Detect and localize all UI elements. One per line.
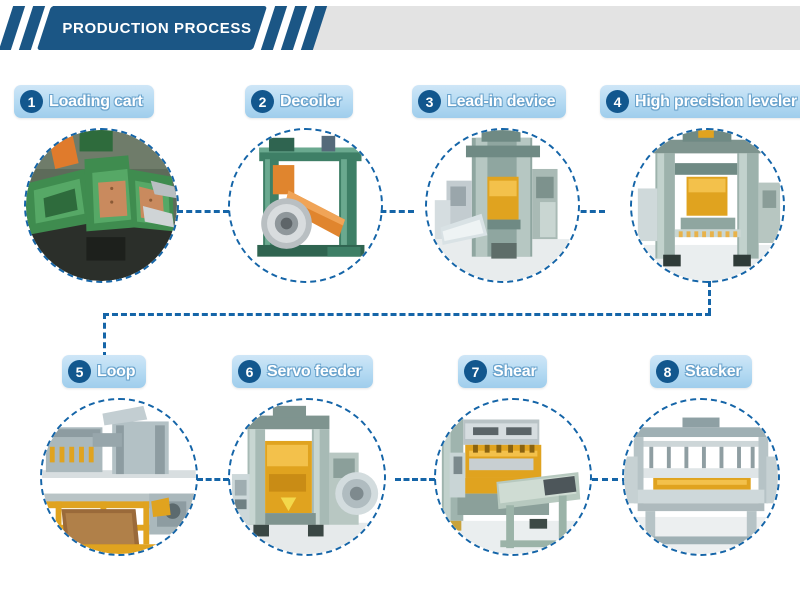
step-7-photo bbox=[436, 400, 590, 554]
connector-5-to-6 bbox=[197, 478, 229, 481]
step-3-label-pill[interactable]: 3 Lead-in device bbox=[412, 85, 566, 118]
step-6-label-pill[interactable]: 6 Servo feeder bbox=[232, 355, 373, 388]
step-1-number-badge: 1 bbox=[20, 90, 43, 113]
step-1-label-pill[interactable]: 1 Loading cart bbox=[14, 85, 154, 118]
step-4-number-badge: 4 bbox=[606, 90, 629, 113]
step-6-photo bbox=[230, 400, 384, 554]
step-8-image-circle bbox=[622, 398, 780, 556]
step-2-label: Decoiler bbox=[280, 93, 342, 111]
step-4-label-pill[interactable]: 4 High precision leveler bbox=[600, 85, 800, 118]
step-5-label: Loop bbox=[97, 363, 135, 381]
header-gray-bar bbox=[311, 6, 800, 50]
step-3-label: Lead-in device bbox=[447, 93, 555, 111]
connector-4-to-5-horizontal bbox=[103, 313, 711, 316]
step-8-label: Stacker bbox=[685, 363, 741, 381]
step-7-number-badge: 7 bbox=[464, 360, 487, 383]
step-2-label-pill[interactable]: 2 Decoiler bbox=[245, 85, 353, 118]
page-title: PRODUCTION PROCESS bbox=[52, 6, 262, 50]
connector-4-to-5-vertical-left bbox=[103, 313, 106, 358]
step-6-number-badge: 6 bbox=[238, 360, 261, 383]
step-3-number-badge: 3 bbox=[418, 90, 441, 113]
step-1-photo bbox=[26, 130, 177, 281]
step-6-label: Servo feeder bbox=[267, 363, 362, 381]
step-3-photo bbox=[427, 130, 578, 281]
connector-1-to-2 bbox=[177, 210, 229, 213]
step-8-label-pill[interactable]: 8 Stacker bbox=[650, 355, 752, 388]
step-7-label-pill[interactable]: 7 Shear bbox=[458, 355, 547, 388]
step-2-image-circle bbox=[228, 128, 383, 283]
step-4-label: High precision leveler bbox=[635, 93, 797, 111]
step-5-photo bbox=[42, 400, 196, 554]
step-5-number-badge: 5 bbox=[68, 360, 91, 383]
step-7-image-circle bbox=[434, 398, 592, 556]
step-3-image-circle bbox=[425, 128, 580, 283]
step-1-image-circle bbox=[24, 128, 179, 283]
step-4-image-circle bbox=[630, 128, 785, 283]
step-1-label: Loading cart bbox=[49, 93, 143, 111]
connector-6-to-7 bbox=[395, 478, 435, 481]
step-7-label: Shear bbox=[493, 363, 536, 381]
step-8-photo bbox=[624, 400, 778, 554]
step-5-label-pill[interactable]: 5 Loop bbox=[62, 355, 146, 388]
step-2-number-badge: 2 bbox=[251, 90, 274, 113]
production-process-infographic: PRODUCTION PROCESS 1 Loading cart bbox=[0, 0, 800, 612]
step-8-number-badge: 8 bbox=[656, 360, 679, 383]
step-2-photo bbox=[230, 130, 381, 281]
header-bar: PRODUCTION PROCESS bbox=[0, 0, 800, 58]
step-5-image-circle bbox=[40, 398, 198, 556]
step-4-photo bbox=[632, 130, 783, 281]
step-6-image-circle bbox=[228, 398, 386, 556]
